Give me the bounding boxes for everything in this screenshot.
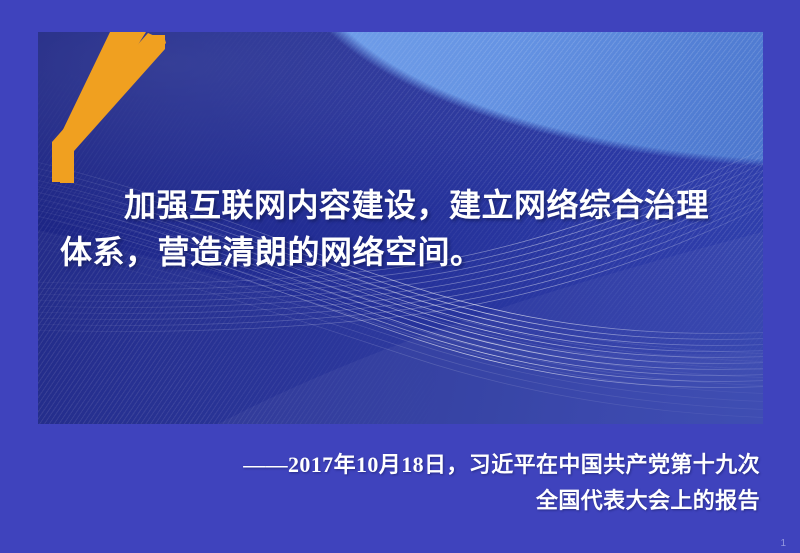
- quote-text: 加强互联网内容建设，建立网络综合治理体系，营造清朗的网络空间。: [38, 182, 763, 275]
- attribution-block: ——2017年10月18日，习近平在中国共产党第十九次 全国代表大会上的报告: [40, 447, 760, 518]
- attribution-line-1: ——2017年10月18日，习近平在中国共产党第十九次: [40, 447, 760, 483]
- presentation-slide: 加强互联网内容建设，建立网络综合治理体系，营造清朗的网络空间。 ——2017年1…: [0, 0, 800, 553]
- page-number: 1: [780, 538, 786, 549]
- quote-body: 加强互联网内容建设，建立网络综合治理体系，营造清朗的网络空间。: [60, 187, 709, 270]
- attribution-line-2: 全国代表大会上的报告: [40, 483, 760, 519]
